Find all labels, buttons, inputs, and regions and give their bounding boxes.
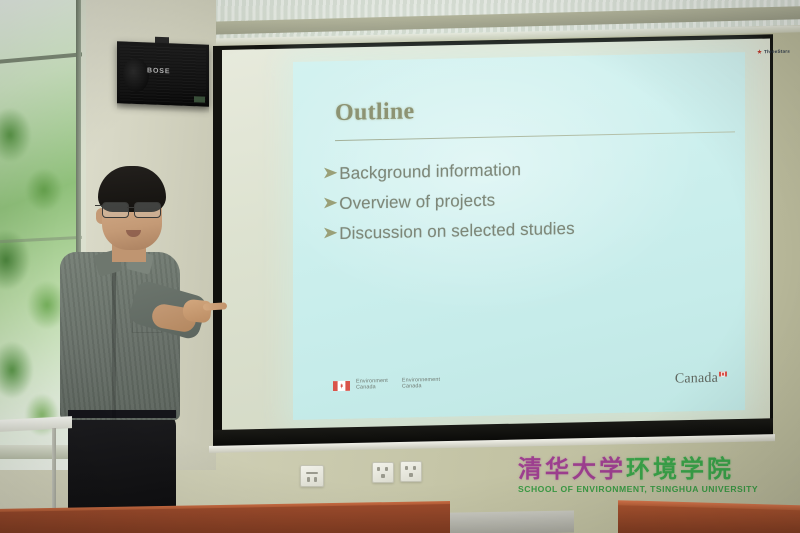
list-item: ➤ Overview of projects <box>323 184 743 214</box>
power-outlet <box>300 465 324 487</box>
outlet-slot <box>385 467 388 471</box>
side-table-leg <box>52 428 56 518</box>
presenter <box>40 160 225 533</box>
wall-brand-label: ThreeStars <box>764 49 790 55</box>
slide-title: Outline <box>335 98 414 127</box>
logo-chinese-school: 环境学院 <box>626 455 734 483</box>
environment-canada-signature: Environment Canada Environnement Canada <box>333 376 454 391</box>
bullet-text: Discussion on selected studies <box>339 218 574 244</box>
logo-english-text: SCHOOL OF ENVIRONMENT, TSINGHUA UNIVERSI… <box>518 484 770 494</box>
wall-brand-logo: ThreeStars <box>757 49 790 55</box>
outlet-slot <box>381 474 385 478</box>
arrow-bullet-icon: ➤ <box>322 163 338 183</box>
list-item: ➤ Background information <box>323 154 743 184</box>
tsinghua-school-of-environment-logo: 清华大学环境学院 SCHOOL OF ENVIRONMENT, TSINGHUA… <box>518 455 770 499</box>
glasses-lens-left <box>102 202 129 218</box>
presenter-shirt <box>60 252 180 420</box>
glasses-icon <box>100 202 164 216</box>
presenter-pointing-finger <box>203 302 227 310</box>
wall-speaker: BOSE <box>117 41 209 107</box>
slide-bullet-list: ➤ Background information ➤ Overview of p… <box>323 154 743 253</box>
projected-slide: Outline ➤ Background information ➤ Overv… <box>293 52 745 420</box>
logo-chinese-university: 清华大学 <box>518 455 626 483</box>
lecture-room-photo: BOSE Outline ➤ Background information ➤ … <box>0 0 800 533</box>
power-outlet <box>372 462 394 483</box>
outlet-slot <box>409 473 413 477</box>
bullet-text: Background information <box>339 159 521 184</box>
arrow-bullet-icon: ➤ <box>322 223 338 243</box>
slide-footer: Environment Canada Environnement Canada … <box>333 371 727 402</box>
star-icon <box>757 49 762 54</box>
department-name-en: Environment Canada <box>356 378 388 392</box>
shirt-placket <box>112 260 116 420</box>
presenter-belt <box>68 410 176 418</box>
desk-right <box>618 505 800 533</box>
presenter-hand <box>182 299 212 324</box>
slide-title-rule <box>335 131 735 141</box>
speaker-badge <box>194 96 205 102</box>
outlet-slot <box>405 466 408 470</box>
arrow-bullet-icon: ➤ <box>322 193 338 213</box>
shirt-texture <box>60 252 180 420</box>
outlet-slot <box>306 472 318 474</box>
power-outlet <box>400 461 422 482</box>
outlet-slot <box>307 477 310 482</box>
outlet-slot <box>314 477 317 482</box>
canada-wordmark: Canada <box>675 371 727 388</box>
canada-wordmark-flag-icon <box>719 372 727 377</box>
canada-flag-icon <box>333 381 350 391</box>
glasses-temple <box>95 205 103 206</box>
glasses-lens-right <box>134 202 161 218</box>
speaker-cone <box>123 57 149 92</box>
glasses-bridge <box>127 207 134 208</box>
canada-wordmark-text: Canada <box>675 371 718 387</box>
outlet-slot <box>413 466 416 470</box>
speaker-brand-label: BOSE <box>147 67 170 75</box>
logo-chinese-text: 清华大学环境学院 <box>518 455 770 483</box>
outlet-slot <box>377 467 380 471</box>
bullet-text: Overview of projects <box>339 190 495 214</box>
department-name-fr: Environnement Canada <box>402 377 440 391</box>
list-item: ➤ Discussion on selected studies <box>323 214 743 244</box>
